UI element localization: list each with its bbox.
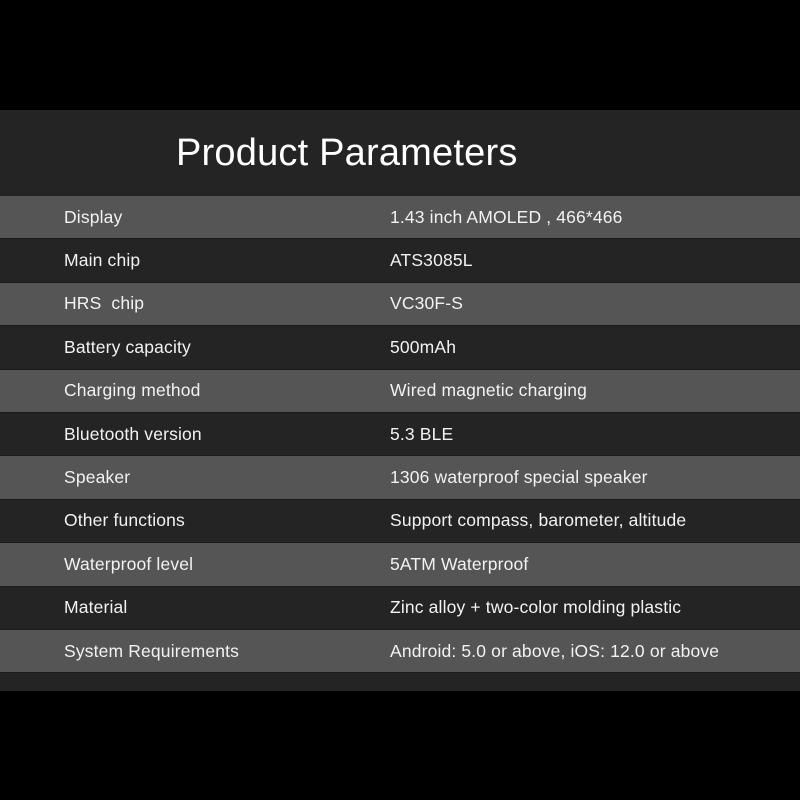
title-panel: Product Parameters (0, 110, 800, 196)
spec-label: Speaker (0, 467, 390, 488)
spec-value: 5.3 BLE (390, 424, 800, 445)
bottom-letterbox-band (0, 691, 800, 800)
spec-value: 5ATM Waterproof (390, 554, 800, 575)
spec-label: Battery capacity (0, 337, 390, 358)
spec-label: Other functions (0, 510, 390, 531)
table-row: Main chipATS3085L (0, 239, 800, 282)
spec-label: HRS chip (0, 293, 390, 314)
spec-value: 500mAh (390, 337, 800, 358)
spec-label: System Requirements (0, 641, 390, 662)
spec-label: Main chip (0, 250, 390, 271)
spec-value: 1.43 inch AMOLED , 466*466 (390, 207, 800, 228)
page-title: Product Parameters (176, 134, 518, 172)
specifications-table: Display1.43 inch AMOLED , 466*466Main ch… (0, 196, 800, 673)
table-row: MaterialZinc alloy + two-color molding p… (0, 587, 800, 630)
spec-value: Zinc alloy + two-color molding plastic (390, 597, 800, 618)
table-row: HRS chipVC30F-S (0, 283, 800, 326)
table-row: Battery capacity500mAh (0, 326, 800, 369)
spec-value: Android: 5.0 or above, iOS: 12.0 or abov… (390, 641, 800, 662)
table-row: Charging methodWired magnetic charging (0, 370, 800, 413)
spec-label: Bluetooth version (0, 424, 390, 445)
table-row: Display1.43 inch AMOLED , 466*466 (0, 196, 800, 239)
spec-value: 1306 waterproof special speaker (390, 467, 800, 488)
table-row: Other functionsSupport compass, baromete… (0, 500, 800, 543)
spec-value: VC30F-S (390, 293, 800, 314)
spec-value: Wired magnetic charging (390, 380, 800, 401)
spec-label: Material (0, 597, 390, 618)
product-parameters-page: Product Parameters Display1.43 inch AMOL… (0, 0, 800, 800)
table-row: Waterproof level5ATM Waterproof (0, 543, 800, 586)
spec-label: Display (0, 207, 390, 228)
top-letterbox-band (0, 0, 800, 110)
table-row: Speaker1306 waterproof special speaker (0, 456, 800, 499)
table-row: Bluetooth version5.3 BLE (0, 413, 800, 456)
spec-label: Waterproof level (0, 554, 390, 575)
table-row: System RequirementsAndroid: 5.0 or above… (0, 630, 800, 673)
spec-value: Support compass, barometer, altitude (390, 510, 800, 531)
table-bottom-strip (0, 673, 800, 691)
spec-value: ATS3085L (390, 250, 800, 271)
spec-label: Charging method (0, 380, 390, 401)
